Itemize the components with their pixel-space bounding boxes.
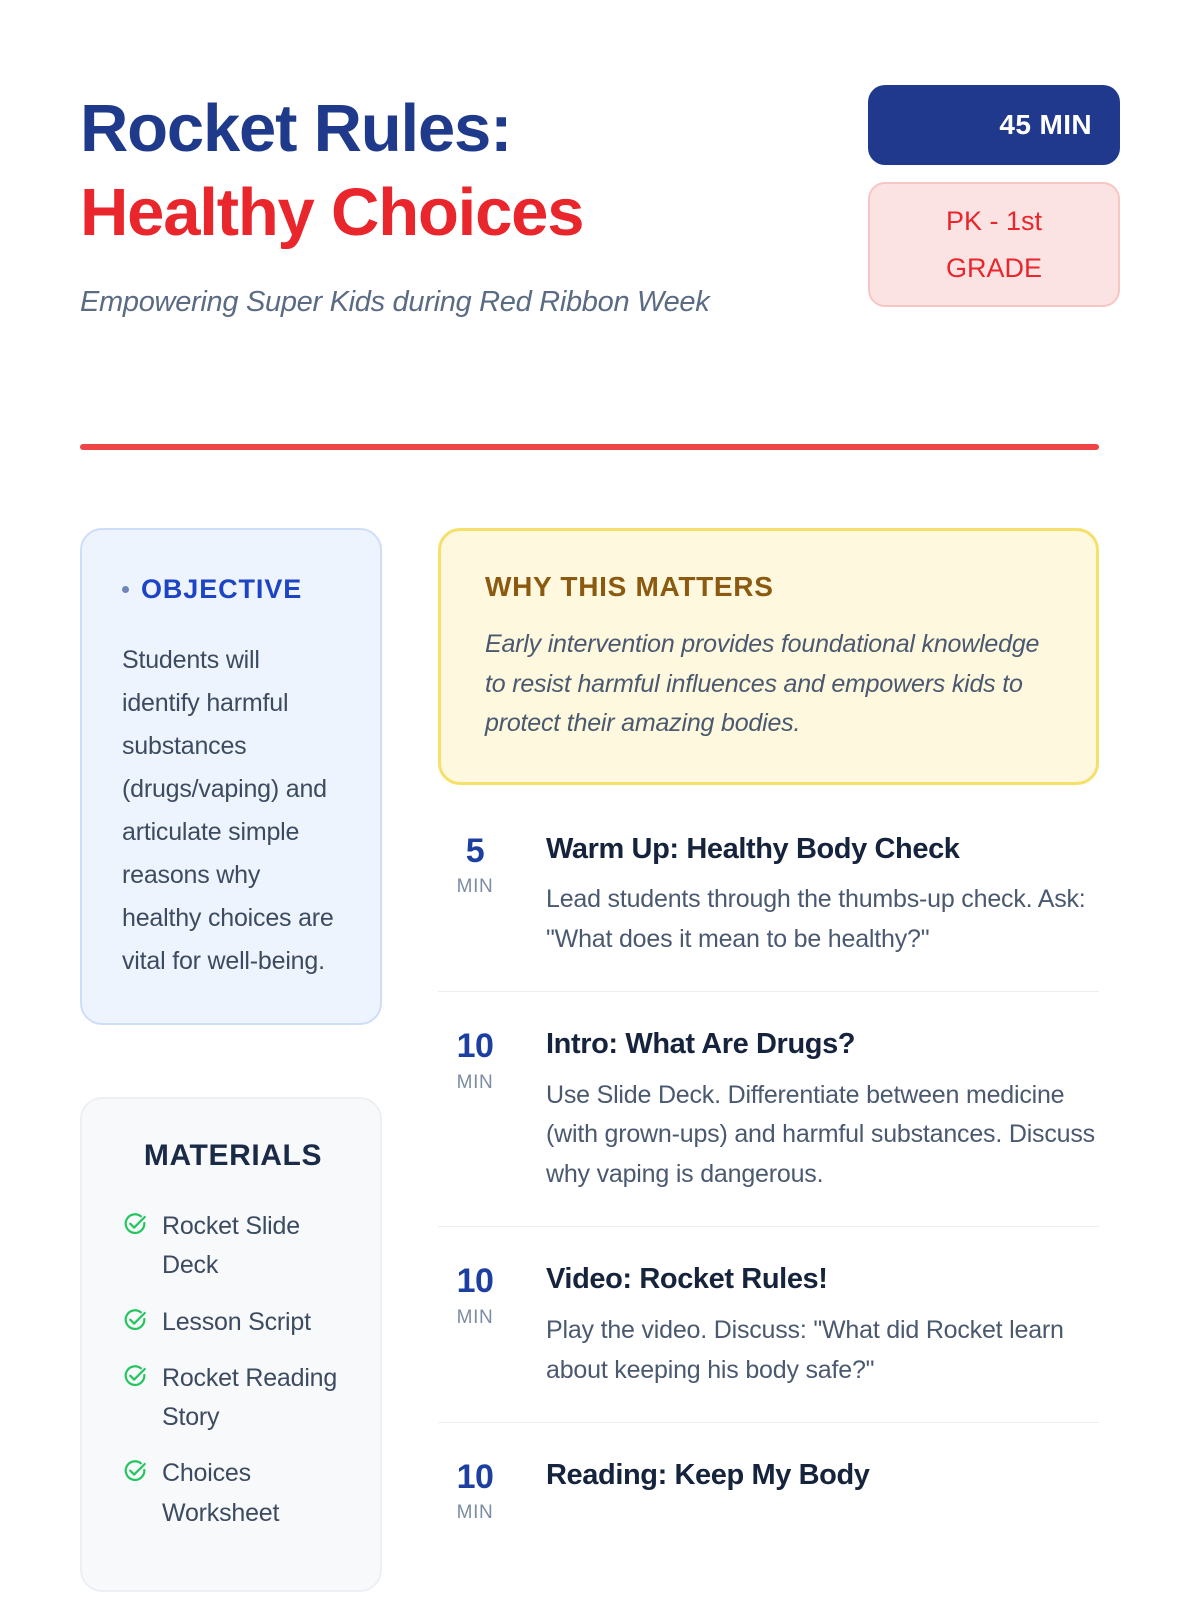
timeline-duration: 5 MIN xyxy=(438,831,512,960)
grade-badge: PK - 1st GRADE xyxy=(868,182,1120,307)
grade-badge-label-line-2: GRADE xyxy=(946,245,1042,291)
dot-icon xyxy=(122,586,129,593)
timeline-item: 5 MIN Warm Up: Healthy Body Check Lead s… xyxy=(438,831,1099,993)
objective-text: Students will identify harmful substance… xyxy=(122,639,340,983)
materials-title: MATERIALS xyxy=(122,1139,344,1173)
materials-card: MATERIALS Rocket Slide Deck xyxy=(80,1097,382,1592)
timeline-duration: 10 MIN xyxy=(438,1261,512,1390)
timeline-minutes: 10 xyxy=(438,1459,512,1496)
list-item: Lesson Script xyxy=(122,1303,344,1342)
timeline-minutes: 5 xyxy=(438,833,512,870)
why-this-matters-card: WHY THIS MATTERS Early intervention prov… xyxy=(438,528,1099,785)
timeline-title: Reading: Keep My Body xyxy=(546,1457,1099,1495)
timeline-unit: MIN xyxy=(438,1072,512,1094)
objective-header: OBJECTIVE xyxy=(122,574,340,605)
timeline-minutes: 10 xyxy=(438,1263,512,1300)
header-divider-rule xyxy=(80,444,1099,450)
page-header: Rocket Rules: Healthy Choices Empowering… xyxy=(80,0,1120,328)
timeline-description: Use Slide Deck. Differentiate between me… xyxy=(546,1076,1099,1195)
list-item: Rocket Slide Deck xyxy=(122,1207,344,1286)
page-title-line-2: Healthy Choices xyxy=(80,162,780,264)
timeline-title: Video: Rocket Rules! xyxy=(546,1261,1099,1299)
timeline-title: Intro: What Are Drugs? xyxy=(546,1026,1099,1064)
timeline-unit: MIN xyxy=(438,1307,512,1329)
list-item: Rocket Reading Story xyxy=(122,1359,344,1438)
timeline-description: Play the video. Discuss: "What did Rocke… xyxy=(546,1311,1099,1390)
check-circle-icon xyxy=(122,1307,148,1338)
page-content: OBJECTIVE Students will identify harmful… xyxy=(80,528,1099,1592)
timeline-description: Lead students through the thumbs-up chec… xyxy=(546,880,1099,959)
timeline-unit: MIN xyxy=(438,876,512,898)
list-item: Choices Worksheet xyxy=(122,1454,344,1533)
duration-badge: 45 MIN xyxy=(868,85,1120,165)
timeline-item: 10 MIN Intro: What Are Drugs? Use Slide … xyxy=(438,1026,1099,1227)
material-label: Lesson Script xyxy=(162,1303,311,1342)
header-badges: 45 MIN PK - 1st GRADE xyxy=(868,78,1120,307)
objective-card: OBJECTIVE Students will identify harmful… xyxy=(80,528,382,1025)
check-circle-icon xyxy=(122,1363,148,1394)
timeline-minutes: 10 xyxy=(438,1028,512,1065)
material-label: Rocket Slide Deck xyxy=(162,1207,344,1286)
timeline-unit: MIN xyxy=(438,1502,512,1524)
left-column: OBJECTIVE Students will identify harmful… xyxy=(80,528,382,1592)
timeline-content: Intro: What Are Drugs? Use Slide Deck. D… xyxy=(546,1026,1099,1194)
timeline-duration: 10 MIN xyxy=(438,1026,512,1194)
timeline-item: 10 MIN Video: Rocket Rules! Play the vid… xyxy=(438,1261,1099,1423)
page-subtitle: Empowering Super Kids during Red Ribbon … xyxy=(80,278,780,328)
why-this-matters-title: WHY THIS MATTERS xyxy=(485,571,1058,603)
lesson-plan-page: Rocket Rules: Healthy Choices Empowering… xyxy=(0,0,1200,1600)
timeline-title: Warm Up: Healthy Body Check xyxy=(546,831,1099,869)
timeline-content: Warm Up: Healthy Body Check Lead student… xyxy=(546,831,1099,960)
timeline-content: Reading: Keep My Body xyxy=(546,1457,1099,1524)
title-block: Rocket Rules: Healthy Choices Empowering… xyxy=(80,78,780,328)
right-column: WHY THIS MATTERS Early intervention prov… xyxy=(438,528,1099,1592)
duration-badge-label: 45 MIN xyxy=(999,109,1092,141)
timeline-duration: 10 MIN xyxy=(438,1457,512,1524)
timeline-item: 10 MIN Reading: Keep My Body xyxy=(438,1457,1099,1556)
objective-title: OBJECTIVE xyxy=(141,574,302,605)
material-label: Rocket Reading Story xyxy=(162,1359,344,1438)
check-circle-icon xyxy=(122,1458,148,1489)
timeline-content: Video: Rocket Rules! Play the video. Dis… xyxy=(546,1261,1099,1390)
check-circle-icon xyxy=(122,1211,148,1242)
grade-badge-label-line-1: PK - 1st xyxy=(946,198,1042,244)
why-this-matters-text: Early intervention provides foundational… xyxy=(485,625,1058,744)
material-label: Choices Worksheet xyxy=(162,1454,344,1533)
lesson-timeline: 5 MIN Warm Up: Healthy Body Check Lead s… xyxy=(438,831,1099,1557)
